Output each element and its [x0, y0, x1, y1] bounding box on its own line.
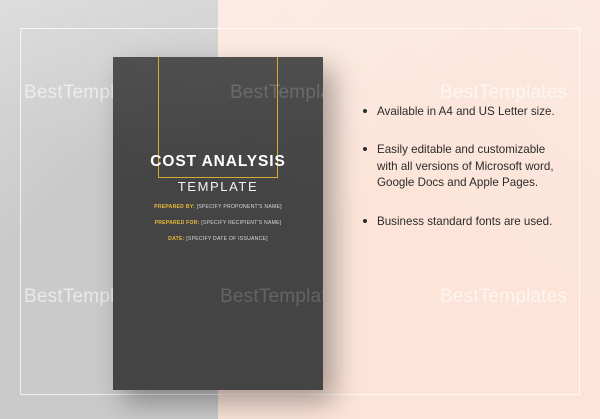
meta-row-date: DATE: [SPECIFY DATE OF ISSUANCE] [113, 237, 323, 242]
feature-text: Easily editable and customizable with al… [377, 143, 554, 189]
meta-label-date: DATE: [168, 236, 184, 242]
cover-meta-block: PREPARED BY: [SPECIFY PROPONENT'S NAME] … [113, 205, 323, 253]
document-subtitle: TEMPLATE [113, 179, 323, 194]
cost-analysis-cover-card[interactable]: BestTemplates BestTemplates COST ANALYSI… [113, 57, 323, 390]
meta-label-prepared-by: PREPARED BY: [154, 204, 195, 210]
list-item: Available in A4 and US Letter size. [363, 104, 559, 120]
meta-row-prepared-by: PREPARED BY: [SPECIFY PROPONENT'S NAME] [113, 205, 323, 210]
meta-value-date: [SPECIFY DATE OF ISSUANCE] [186, 236, 268, 242]
document-title: COST ANALYSIS [113, 153, 323, 170]
meta-value-prepared-by: [SPECIFY PROPONENT'S NAME] [197, 204, 282, 210]
list-item: Business standard fonts are used. [363, 214, 559, 230]
feature-text: Available in A4 and US Letter size. [377, 105, 555, 118]
bullet-dot-icon [363, 147, 367, 151]
meta-label-prepared-for: PREPARED FOR: [155, 220, 200, 226]
watermark-card-bottom: BestTemplates [220, 286, 323, 308]
watermark-card-top: BestTemplates [230, 82, 323, 104]
meta-value-prepared-for: [SPECIFY RECIPIENT'S NAME] [201, 220, 281, 226]
meta-row-prepared-for: PREPARED FOR: [SPECIFY RECIPIENT'S NAME] [113, 221, 323, 226]
template-preview-canvas: BestTemplates BestTemplates BestTemplate… [0, 0, 600, 419]
feature-text: Business standard fonts are used. [377, 215, 552, 228]
bullet-dot-icon [363, 219, 367, 223]
feature-list: Available in A4 and US Letter size. Easi… [363, 104, 559, 230]
list-item: Easily editable and customizable with al… [363, 142, 559, 191]
bullet-dot-icon [363, 109, 367, 113]
cover-title-block: COST ANALYSIS TEMPLATE [113, 153, 323, 194]
